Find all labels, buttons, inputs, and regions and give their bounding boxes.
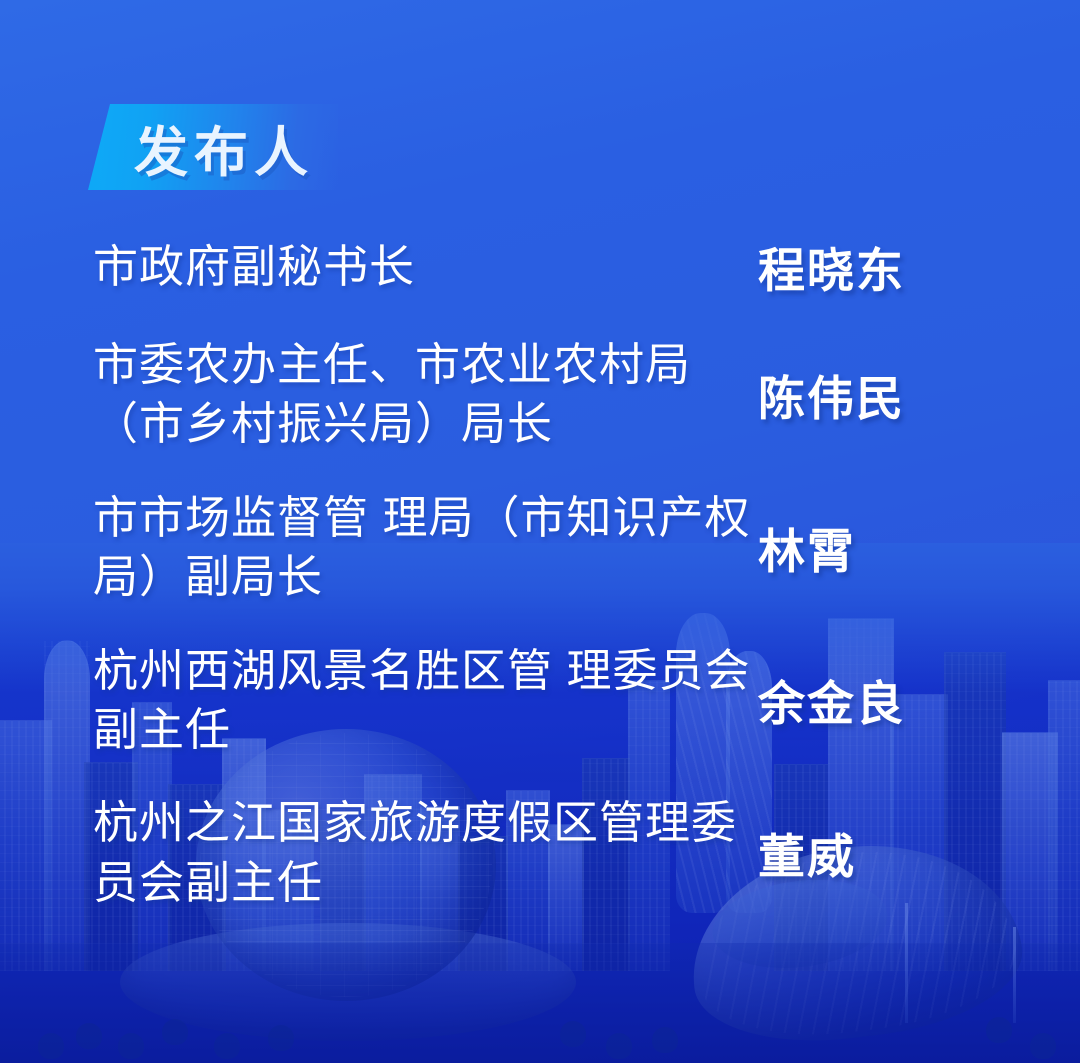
speaker-title: 杭州之江国家旅游度假区管理委员会副主任 [93,793,758,912]
tree [38,1033,64,1059]
tree [986,1017,1012,1043]
waterfront-plaza [0,943,1080,1063]
roster-row: 杭州西湖风景名胜区管 理委员会副主任 余金良 [0,641,1080,760]
speaker-title: 市市场监督管 理局（市知识产权局）副局长 [93,488,758,607]
roster-row: 杭州之江国家旅游度假区管理委员会副主任 董威 [0,793,1080,912]
speaker-name: 董威 [758,818,1080,887]
section-header-banner: 发布人 [88,104,338,190]
speaker-name: 余金良 [758,665,1080,734]
tree [214,1033,240,1059]
tree [118,1033,144,1059]
tree [162,1019,188,1045]
tree [1030,1033,1056,1059]
tree [76,1023,102,1049]
speaker-title: 市政府副秘书长 [93,237,758,296]
tree [560,1021,586,1047]
roster-row: 市政府副秘书长 程晓东 [0,232,1080,301]
speaker-name: 林霄 [758,513,1080,582]
page-title: 发布人 [134,108,314,187]
speaker-name: 程晓东 [758,232,1080,301]
roster-row: 市委农办主任、市农业农村局（市乡村振兴局）局长 陈伟民 [0,335,1080,454]
tree [268,1025,294,1051]
speaker-name: 陈伟民 [758,360,1080,429]
roster-row: 市市场监督管 理局（市知识产权局）副局长 林霄 [0,488,1080,607]
press-conference-speakers-poster: 发布人 市政府副秘书长 程晓东 市委农办主任、市农业农村局（市乡村振兴局）局长 … [0,0,1080,1063]
speaker-roster: 市政府副秘书长 程晓东 市委农办主任、市农业农村局（市乡村振兴局）局长 陈伟民 … [0,232,1080,946]
speaker-title: 杭州西湖风景名胜区管 理委员会副主任 [93,641,758,760]
tree [606,1033,632,1059]
tree [652,1027,678,1053]
speaker-title: 市委农办主任、市农业农村局（市乡村振兴局）局长 [93,335,758,454]
